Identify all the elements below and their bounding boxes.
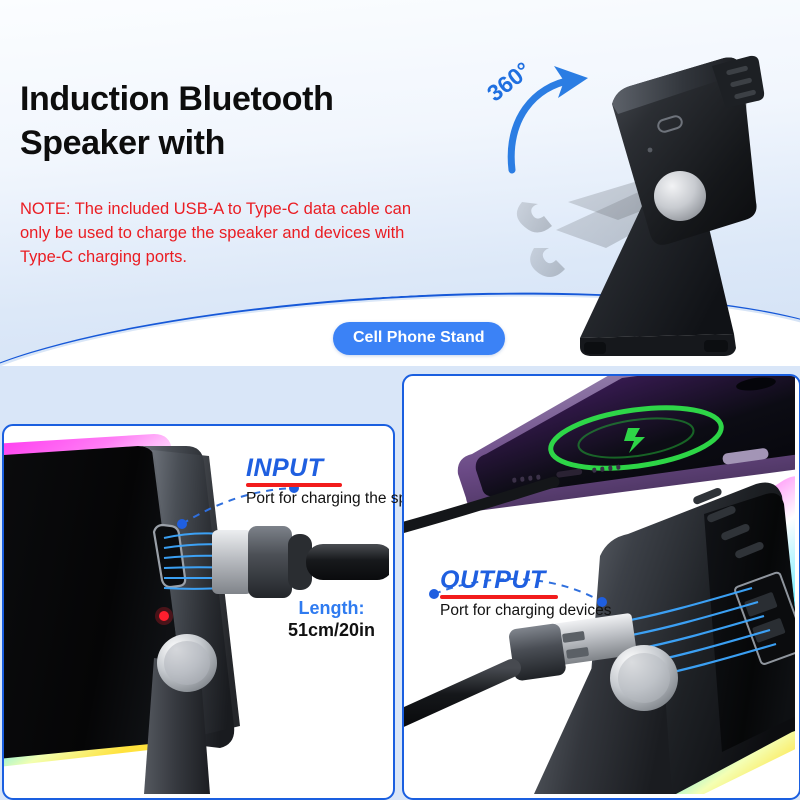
rotation-indicator: 360° bbox=[476, 58, 616, 178]
led-glow bbox=[155, 607, 173, 625]
mic-hole-icon bbox=[648, 148, 653, 153]
cable-length-group: Length: 51cm/20in bbox=[288, 598, 375, 641]
cable-length-value: 51cm/20in bbox=[288, 620, 375, 642]
cable-length-title: Length: bbox=[288, 598, 375, 620]
page-title: Induction Bluetooth Speaker with bbox=[20, 78, 440, 165]
status-badge: Cell Phone Stand bbox=[333, 322, 505, 355]
note-text: NOTE: The included USB-A to Type-C data … bbox=[20, 198, 432, 270]
output-caption: OUTPUT bbox=[440, 568, 611, 593]
foot-pad-right bbox=[704, 340, 728, 352]
hinge-knob-inner bbox=[164, 641, 210, 685]
hero-section: 360° Induction Bluetooth Speaker with NO… bbox=[0, 0, 800, 366]
usb-c-cable bbox=[212, 526, 389, 598]
output-caption-group: OUTPUT Port for charging devices bbox=[440, 568, 611, 620]
output-subcaption: Port for charging devices bbox=[440, 602, 611, 620]
input-caption-underline bbox=[246, 483, 342, 487]
output-caption-underline bbox=[440, 595, 558, 599]
infographic-page: 360° Induction Bluetooth Speaker with NO… bbox=[0, 0, 800, 800]
foot-pad-left bbox=[584, 342, 606, 354]
hinge-knob bbox=[654, 171, 706, 221]
hinge-knob-inner bbox=[618, 653, 670, 703]
